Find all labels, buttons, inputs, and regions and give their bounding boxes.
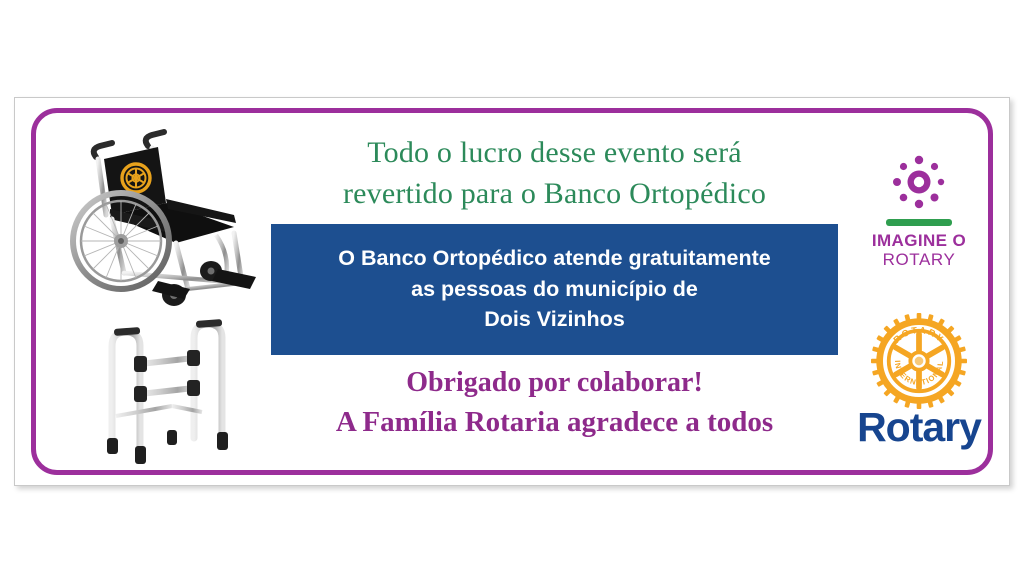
- poster-purple-frame: Todo o lucro desse evento será revertido…: [31, 108, 993, 475]
- poster-card: Todo o lucro desse evento será revertido…: [14, 97, 1010, 486]
- walker-icon: [86, 318, 256, 473]
- imagine-rotary-label-line-2: ROTARY: [846, 250, 992, 270]
- logo-column: IMAGINE O ROTARY: [838, 113, 998, 470]
- imagine-rotary-green-bar: [886, 219, 952, 226]
- imagine-rotary-logo: IMAGINE O ROTARY: [846, 153, 992, 270]
- rotary-international-logo: ROTARY INTERNATIONAL Rotary: [844, 313, 994, 448]
- closing-line-1: Obrigado por colaborar!: [271, 363, 838, 403]
- message-column: Todo o lucro desse evento será revertido…: [271, 113, 838, 470]
- poster-body: Todo o lucro desse evento será revertido…: [36, 113, 988, 470]
- wheelchair-icon: [66, 123, 266, 313]
- rotary-wheel-icon: ROTARY INTERNATIONAL: [871, 313, 967, 409]
- imagine-rotary-sun-icon: [888, 153, 950, 211]
- rotary-wordmark: Rotary: [844, 407, 994, 448]
- headline-line-2: revertido para o Banco Ortopédico: [271, 174, 838, 215]
- equipment-column: [36, 113, 271, 470]
- imagine-rotary-label-line-1: IMAGINE O: [846, 232, 992, 250]
- notice-line-3: Dois Vizinhos: [484, 304, 625, 335]
- closing-line-2: A Família Rotaria agradece a todos: [271, 402, 838, 443]
- blue-notice-box: O Banco Ortopédico atende gratuitamente …: [271, 224, 838, 355]
- notice-line-2: as pessoas do município de: [411, 274, 698, 305]
- headline-line-1: Todo o lucro desse evento será: [271, 133, 838, 174]
- notice-line-1: O Banco Ortopédico atende gratuitamente: [338, 243, 770, 274]
